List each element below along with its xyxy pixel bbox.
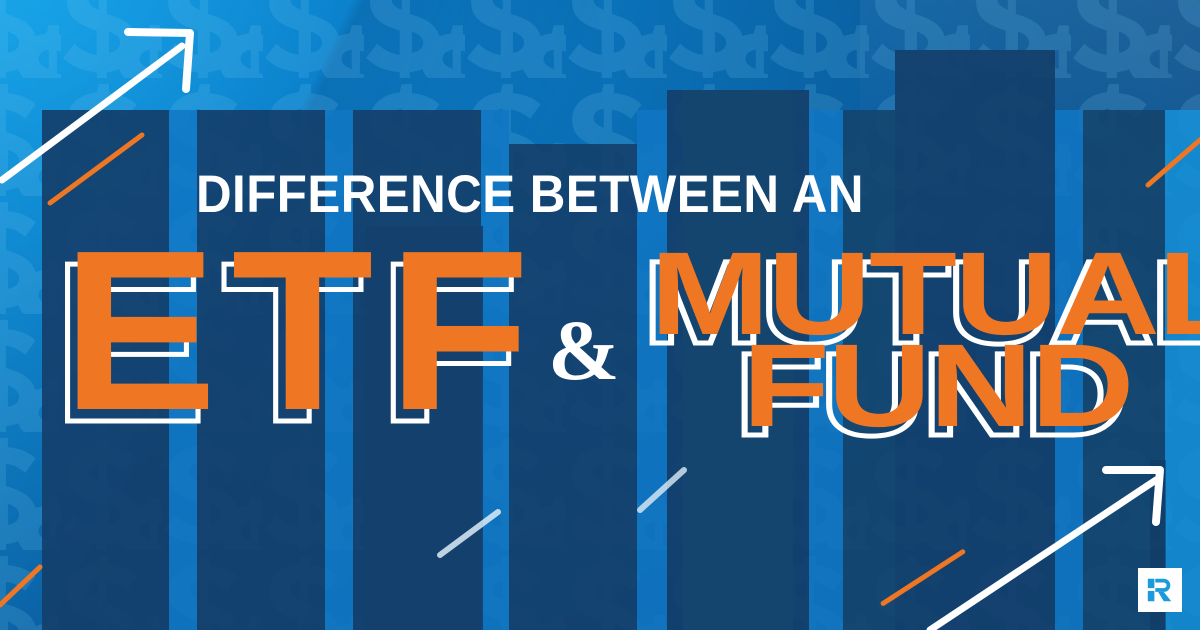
fund-word: FUND [742, 338, 1132, 435]
share-graphic: DIFFERENCE BETWEEN AN ETF ETF & MUTUAL M… [0, 0, 1200, 630]
logo-r-icon [1145, 575, 1175, 605]
etf-word: ETF [62, 238, 544, 425]
ampersand: & [548, 300, 620, 400]
ramsey-logo[interactable] [1138, 568, 1182, 612]
chart-bar [1165, 110, 1200, 630]
